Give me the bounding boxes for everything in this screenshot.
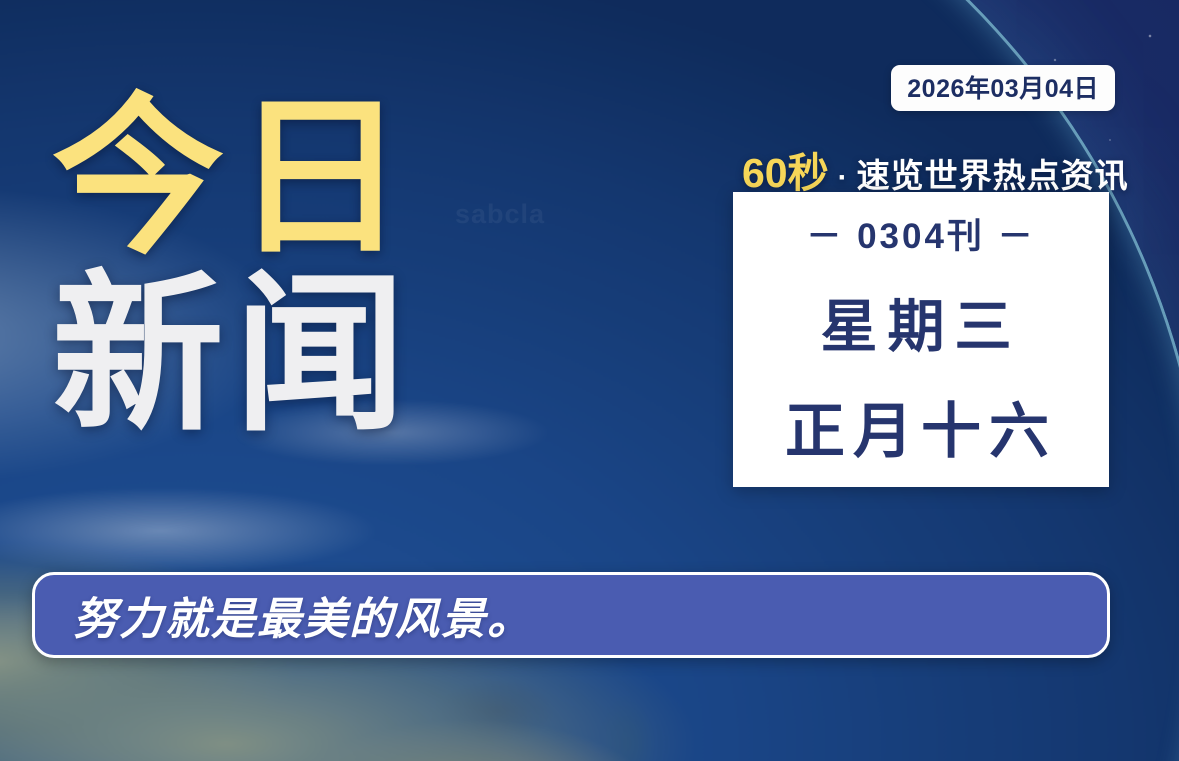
tagline-seconds: 60秒 bbox=[742, 139, 829, 199]
tagline-separator-dot: · bbox=[835, 161, 851, 195]
tagline-description: 速览世界热点资讯 bbox=[857, 149, 1129, 197]
date-badge: 2026年03月04日 bbox=[891, 65, 1115, 111]
news-poster: sabcla 今日 新闻 2026年03月04日 60秒 · 速览世界热点资讯 … bbox=[0, 0, 1179, 761]
issue-card: － 0304刊 － 星期三 正月十六 bbox=[733, 192, 1109, 487]
headline-line-1: 今日 bbox=[52, 96, 416, 259]
quote-banner: 努力就是最美的风景。 bbox=[32, 572, 1110, 658]
page-title: 今日 新闻 bbox=[52, 96, 416, 437]
quote-text: 努力就是最美的风景。 bbox=[73, 583, 533, 647]
tagline: 60秒 · 速览世界热点资讯 bbox=[742, 139, 1129, 199]
issue-number: － 0304刊 － bbox=[806, 208, 1035, 259]
lunar-date-label: 正月十六 bbox=[785, 383, 1057, 470]
weekday-label: 星期三 bbox=[821, 281, 1022, 363]
headline-line-2: 新闻 bbox=[52, 273, 416, 436]
